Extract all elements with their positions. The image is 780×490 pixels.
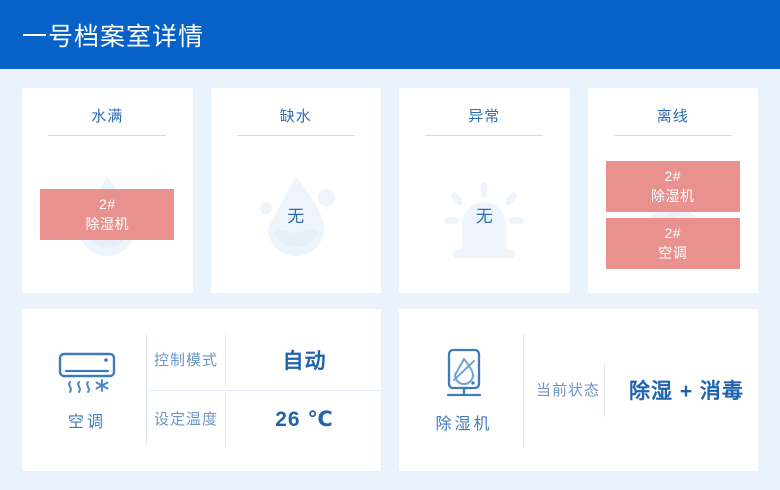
device-number: 2#: [606, 166, 740, 186]
row-value: 自动: [228, 345, 381, 375]
status-card-row: 水满 2# 除湿机 缺水: [0, 69, 780, 293]
device-name: 除湿机: [606, 186, 740, 206]
device-badge[interactable]: 2# 空调: [606, 218, 740, 269]
panel-row-control-mode: 控制模式 自动: [147, 331, 381, 390]
card-body: 无: [399, 136, 570, 293]
card-body: 无: [211, 136, 382, 293]
panel-rows: 当前状态 除湿 + 消毒: [524, 331, 758, 449]
device-badge[interactable]: 2# 除湿机: [40, 189, 174, 240]
card-title: 异常: [468, 105, 500, 126]
device-number: 2#: [40, 194, 174, 214]
row-divider: [225, 333, 226, 387]
status-card-water-full[interactable]: 水满 2# 除湿机: [22, 88, 193, 293]
status-value: 无: [476, 202, 493, 227]
card-title: 水满: [91, 105, 123, 126]
air-conditioner-icon: [55, 349, 119, 401]
page-title: 一号档案室详情: [22, 17, 204, 53]
panel-row-set-temperature: 设定温度 26 ℃: [147, 390, 381, 450]
row-value: 除湿 + 消毒: [607, 375, 758, 405]
panel-device-label: 除湿机: [435, 410, 492, 434]
app-page: 一号档案室详情 水满 2# 除湿机: [0, 0, 780, 490]
panel-device-block: 除湿机: [405, 347, 523, 434]
device-badge-stack: 2# 除湿机 2# 空调: [606, 161, 740, 269]
device-name: 除湿机: [40, 214, 174, 234]
row-divider: [604, 363, 605, 417]
panel-rows: 控制模式 自动 设定温度 26 ℃: [147, 331, 381, 449]
card-body: 2# 除湿机: [22, 136, 193, 293]
row-label: 设定温度: [147, 409, 225, 430]
row-label: 控制模式: [147, 350, 225, 371]
status-card-abnormal[interactable]: 异常 无: [399, 88, 570, 293]
device-badge[interactable]: 2# 除湿机: [606, 161, 740, 212]
card-body: 2# 除湿机 2# 空调: [588, 136, 759, 293]
panel-device-label: 空调: [68, 408, 106, 432]
row-value: 26 ℃: [228, 407, 381, 432]
status-card-water-shortage[interactable]: 缺水 无: [211, 88, 382, 293]
panel-air-conditioner[interactable]: 空调 控制模式 自动 设定温度 26 ℃: [22, 309, 381, 471]
page-header: 一号档案室详情: [0, 0, 780, 69]
card-title: 离线: [657, 105, 689, 126]
row-label: 当前状态: [532, 380, 604, 401]
status-value: 无: [287, 202, 304, 227]
dehumidifier-icon: [434, 347, 494, 403]
device-badge-stack: 2# 除湿机: [40, 189, 174, 240]
row-divider: [225, 393, 226, 447]
status-card-offline[interactable]: 离线 2# 除湿机 2# 空调: [588, 88, 759, 293]
device-panel-row: 空调 控制模式 自动 设定温度 26 ℃: [0, 293, 780, 471]
device-name: 空调: [606, 243, 740, 263]
panel-row-current-status: 当前状态 除湿 + 消毒: [524, 331, 758, 449]
device-number: 2#: [606, 223, 740, 243]
panel-device-block: 空调: [28, 349, 146, 432]
card-title: 缺水: [280, 105, 312, 126]
panel-dehumidifier[interactable]: 除湿机 当前状态 除湿 + 消毒: [399, 309, 758, 471]
